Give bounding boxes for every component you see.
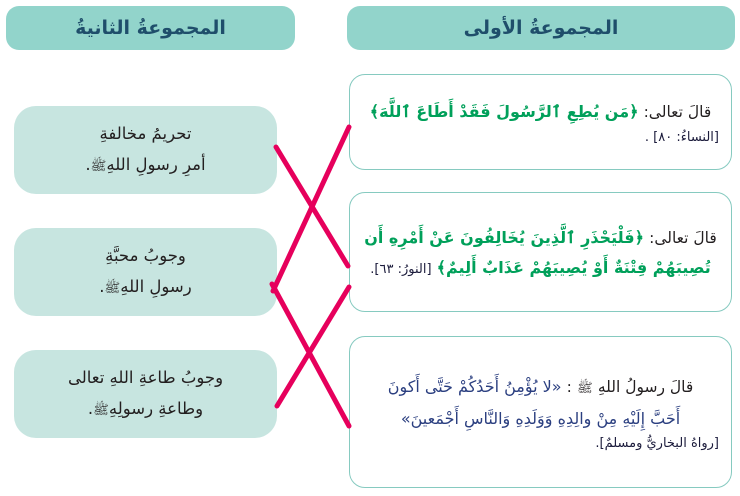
answer-card-3-line-2-text: وطاعةِ رسولِهِ bbox=[109, 399, 203, 418]
answer-card-1-line-2-text: أمرِ رسولِ اللهِ bbox=[106, 155, 205, 174]
evidence-card-3[interactable]: قالَ رسولُ اللهِ ﷺ : «لا يُؤْمِنُ أَحَدُ… bbox=[349, 336, 732, 488]
evidence-card-2-reference: [النورُ: ٦٣]. bbox=[370, 262, 431, 277]
evidence-card-3-lead: قالَ رسولُ اللهِ bbox=[598, 378, 693, 396]
salla-allahu-alayhi-wasallam-icon: ﷺ bbox=[577, 381, 593, 396]
evidence-card-3-reference: [رواهُ البخاريُّ ومسلمٌ]. bbox=[362, 434, 719, 455]
evidence-card-3-colon: : bbox=[567, 378, 572, 396]
salla-allahu-alayhi-wasallam-icon: ﷺ bbox=[93, 403, 109, 418]
answer-card-1[interactable]: تحريمُ مخالفةِ أمرِ رسولِ اللهِﷺ. bbox=[14, 106, 277, 194]
answer-card-2-line-2: رسولِ اللهِﷺ. bbox=[99, 272, 191, 303]
evidence-card-2-main-line: قالَ تعالى: ﴿فَلْيَحْذَرِ ٱلَّذِينَ يُخَ… bbox=[362, 223, 719, 253]
line-card2-to-evidence1 bbox=[273, 127, 349, 291]
line-card3-to-evidence2 bbox=[277, 287, 349, 406]
salla-allahu-alayhi-wasallam-icon: ﷺ bbox=[105, 281, 121, 296]
evidence-card-1-reference: [النساءُ: ٨٠] . bbox=[362, 128, 719, 149]
answer-card-2[interactable]: وجوبُ محبَّةِ رسولِ اللهِﷺ. bbox=[14, 228, 277, 316]
evidence-card-1-main-line: قالَ تعالى: ﴿مَن يُطِعِ ٱلرَّسُولَ فَقَد… bbox=[362, 97, 719, 127]
column-header-group-one: المجموعةُ الأولى bbox=[347, 6, 735, 50]
answer-card-3-text: وجوبُ طاعةِ اللهِ تعالى وطاعةِ رسولِهِﷺ. bbox=[68, 363, 223, 424]
evidence-card-3-main-line: قالَ رسولُ اللهِ ﷺ : «لا يُؤْمِنُ أَحَدُ… bbox=[362, 371, 719, 402]
matching-exercise-sheet: المجموعةُ الأولى المجموعةُ الثانيةُ تحري… bbox=[0, 0, 740, 496]
salla-allahu-alayhi-wasallam-icon: ﷺ bbox=[91, 159, 107, 174]
answer-card-1-text: تحريمُ مخالفةِ أمرِ رسولِ اللهِﷺ. bbox=[85, 119, 205, 180]
evidence-card-1-lead: قالَ تعالى: bbox=[644, 103, 712, 121]
answer-card-3-line-1: وجوبُ طاعةِ اللهِ تعالى bbox=[68, 363, 223, 394]
answer-card-2-line-2-text: رسولِ اللهِ bbox=[120, 277, 191, 296]
answer-card-1-line-1: تحريمُ مخالفةِ bbox=[85, 119, 205, 150]
answer-card-2-text: وجوبُ محبَّةِ رسولِ اللهِﷺ. bbox=[99, 241, 191, 302]
evidence-card-3-hadith-line-2: أَحَبَّ إِلَيْهِ مِنْ والِدِهِ وَوَلَدِه… bbox=[362, 403, 719, 434]
evidence-card-2-ayah-line-2: تُصِيبَهُمْ فِتْنَةٌ أَوْ يُصِيبَهُمْ عَ… bbox=[437, 258, 711, 277]
evidence-card-2-second-line: تُصِيبَهُمْ فِتْنَةٌ أَوْ يُصِيبَهُمْ عَ… bbox=[362, 253, 719, 283]
evidence-card-2-ayah-line-1: ﴿فَلْيَحْذَرِ ٱلَّذِينَ يُخَالِفُونَ عَن… bbox=[364, 228, 644, 247]
line-card2-to-evidence3 bbox=[272, 284, 349, 426]
column-header-group-two-label: المجموعةُ الثانيةُ bbox=[75, 17, 226, 40]
evidence-card-2[interactable]: قالَ تعالى: ﴿فَلْيَحْذَرِ ٱلَّذِينَ يُخَ… bbox=[349, 192, 732, 312]
evidence-card-1[interactable]: قالَ تعالى: ﴿مَن يُطِعِ ٱلرَّسُولَ فَقَد… bbox=[349, 74, 732, 170]
evidence-card-2-lead: قالَ تعالى: bbox=[649, 229, 717, 247]
answer-card-2-line-1: وجوبُ محبَّةِ bbox=[99, 241, 191, 272]
column-header-group-one-label: المجموعةُ الأولى bbox=[464, 17, 619, 40]
line-card1-to-evidence2 bbox=[276, 147, 348, 266]
answer-card-3[interactable]: وجوبُ طاعةِ اللهِ تعالى وطاعةِ رسولِهِﷺ. bbox=[14, 350, 277, 438]
answer-card-3-line-2: وطاعةِ رسولِهِﷺ. bbox=[68, 394, 223, 425]
evidence-card-3-hadith-line-1: «لا يُؤْمِنُ أَحَدُكُمْ حَتَّى أَكونَ bbox=[388, 377, 562, 396]
evidence-card-1-ayah: ﴿مَن يُطِعِ ٱلرَّسُولَ فَقَدْ أَطَاعَ ٱل… bbox=[370, 102, 639, 121]
column-header-group-two: المجموعةُ الثانيةُ bbox=[6, 6, 295, 50]
answer-card-1-line-2: أمرِ رسولِ اللهِﷺ. bbox=[85, 150, 205, 181]
